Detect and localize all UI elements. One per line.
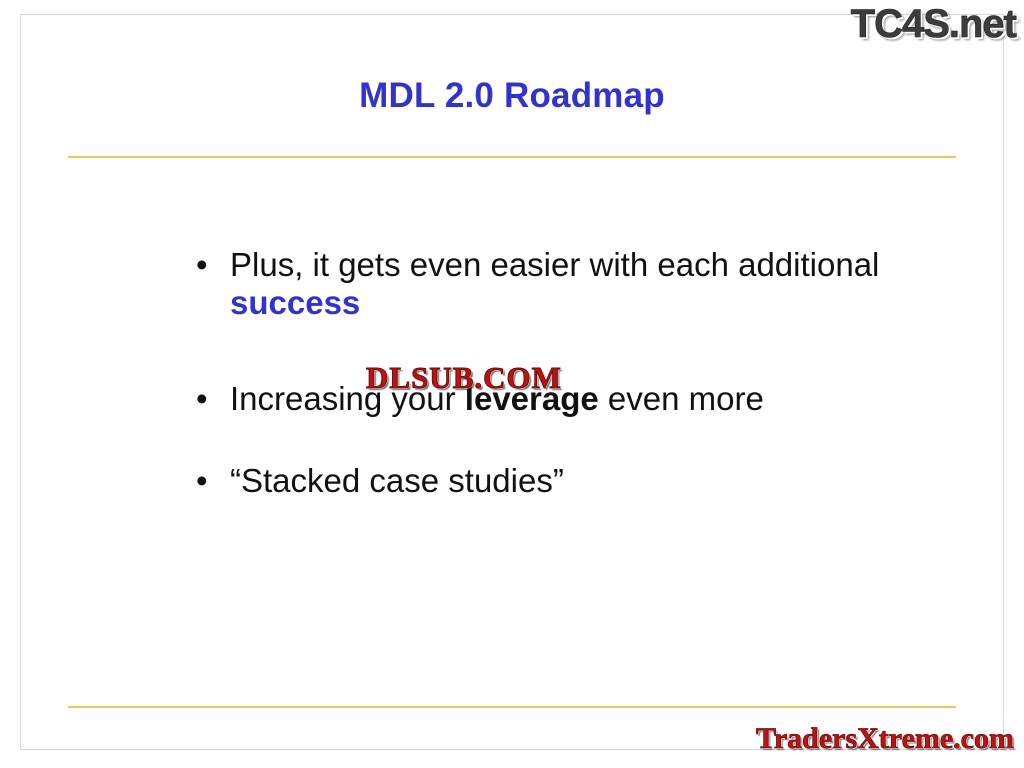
bullet-text: “Stacked case studies” (230, 462, 850, 500)
bullet-marker-icon: • (196, 246, 230, 284)
watermark-top-right: TC4S.net (851, 2, 1016, 47)
bullet-text-tail: even more (599, 380, 764, 417)
page-title: MDL 2.0 Roadmap (0, 76, 1024, 116)
slide-canvas: TC4S.net MDL 2.0 Roadmap • Plus, it gets… (0, 0, 1024, 768)
spacer (196, 322, 916, 344)
spacer (196, 440, 916, 462)
watermark-bottom-right: TradersXtreme.com (756, 722, 1014, 756)
bullet-text: Plus, it gets even easier with each addi… (230, 246, 890, 322)
divider-bottom (68, 706, 956, 708)
list-item: • “Stacked case studies” (196, 462, 916, 500)
bullet-text-lead: Plus, it gets even easier with each addi… (230, 246, 879, 283)
divider-top (68, 156, 956, 158)
watermark-middle: DLSUB.COM (366, 360, 562, 396)
bullet-marker-icon: • (196, 380, 230, 418)
list-item: • Plus, it gets even easier with each ad… (196, 246, 916, 322)
spacer (196, 418, 916, 440)
bullet-marker-icon: • (196, 462, 230, 500)
bullet-accent-word: success (230, 284, 360, 321)
